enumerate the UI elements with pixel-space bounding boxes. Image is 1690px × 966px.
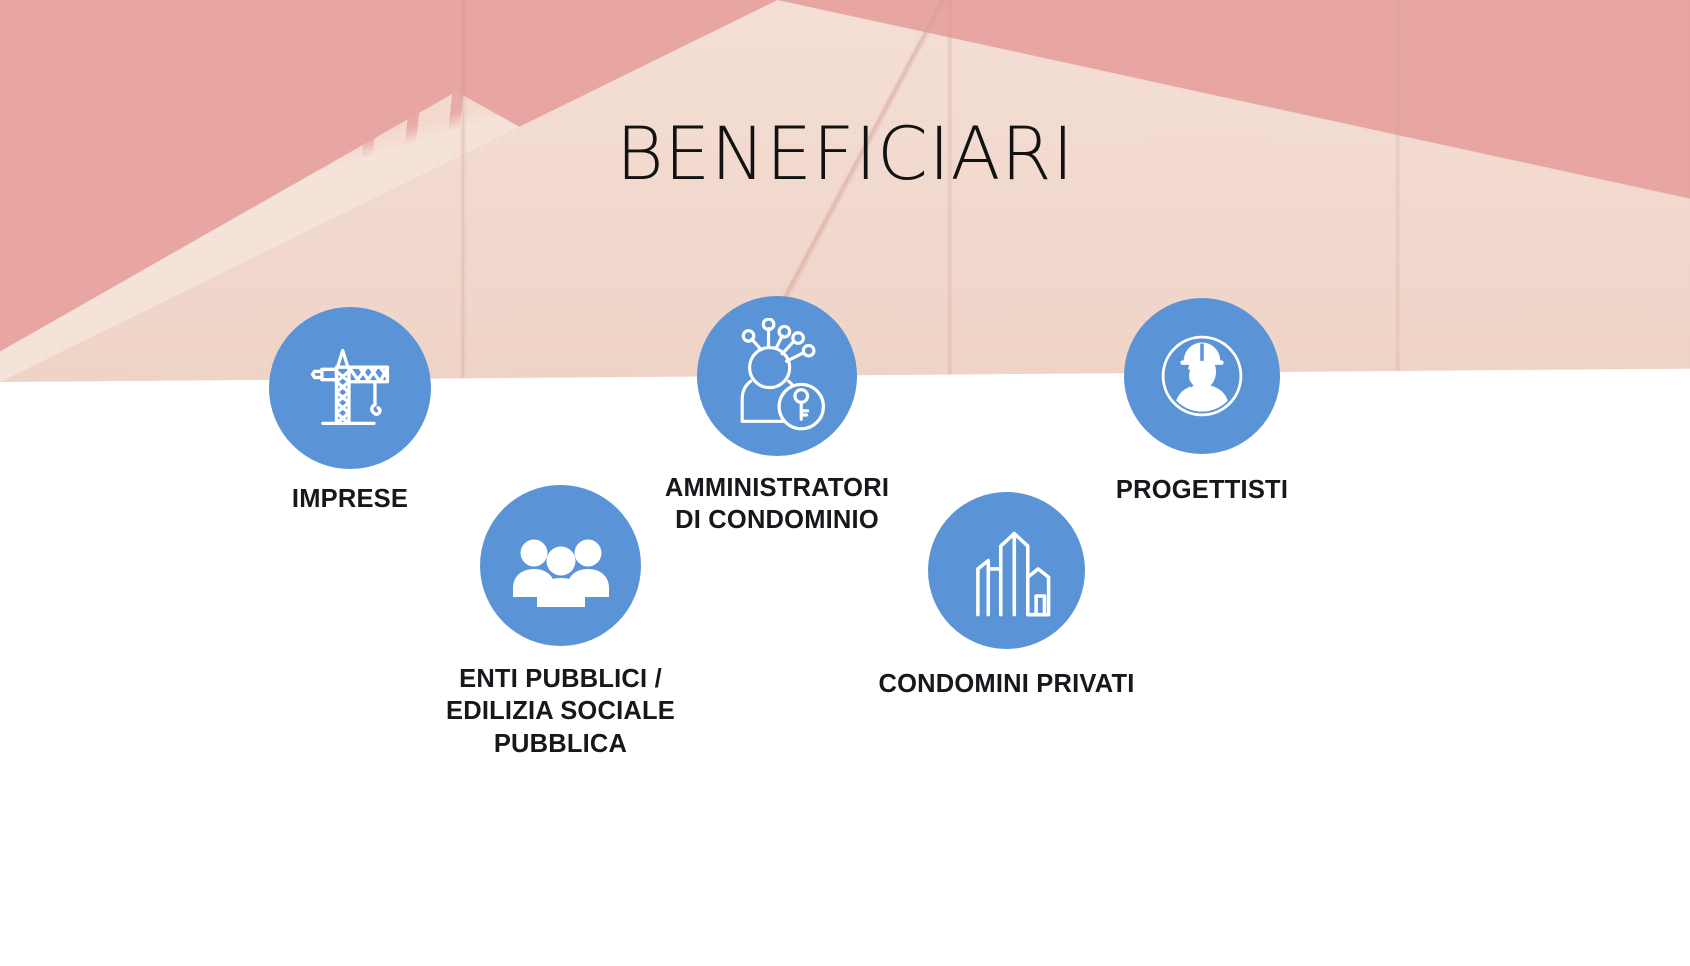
icon-circle-amministratori[interactable] [697, 296, 857, 456]
icon-circle-enti-pubblici[interactable] [480, 485, 641, 646]
label-condomini-privati: CONDOMINI PRIVATI [747, 668, 1267, 700]
beneficiary-progettisti[interactable]: PROGETTISTI [1124, 298, 1280, 454]
icon-circle-imprese[interactable] [269, 307, 431, 469]
slide-title: BENEFICIARI [0, 118, 1690, 191]
group-of-people-icon [506, 511, 616, 621]
label-progettisti: PROGETTISTI [1116, 474, 1288, 506]
label-enti-pubblici: ENTI PUBBLICI / EDILIZIA SOCIALE PUBBLIC… [301, 663, 821, 760]
label-imprese: IMPRESE [292, 483, 408, 515]
beneficiary-condomini-privati[interactable]: CONDOMINI PRIVATI [928, 492, 1085, 649]
beneficiary-imprese[interactable]: IMPRESE [269, 307, 431, 469]
person-network-key-icon [719, 318, 835, 434]
icon-circle-progettisti[interactable] [1124, 298, 1280, 454]
construction-crane-icon [298, 336, 402, 440]
engineer-hardhat-avatar-icon [1148, 322, 1256, 430]
beneficiary-amministratori[interactable]: AMMINISTRATORI DI CONDOMINIO [697, 296, 857, 456]
beneficiary-enti-pubblici[interactable]: ENTI PUBBLICI / EDILIZIA SOCIALE PUBBLIC… [480, 485, 641, 646]
icon-circle-condomini-privati[interactable] [928, 492, 1085, 649]
residential-buildings-icon [955, 519, 1059, 623]
